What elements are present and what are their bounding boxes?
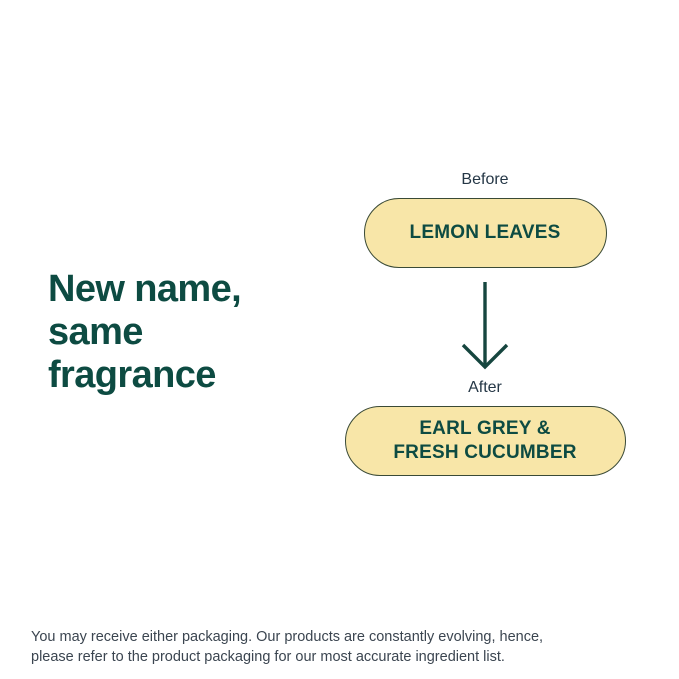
flow-arrow: [330, 282, 640, 378]
after-pill: EARL GREY & FRESH CUCUMBER: [345, 406, 626, 476]
headline-line-3: fragrance: [48, 354, 328, 397]
headline-line-1: New name,: [48, 268, 328, 311]
before-pill: LEMON LEAVES: [364, 198, 607, 268]
disclaimer-text: You may receive either packaging. Our pr…: [31, 627, 631, 667]
infographic-canvas: New name, same fragrance Before LEMON LE…: [0, 0, 679, 679]
page-title: New name, same fragrance: [48, 268, 328, 397]
after-pill-text-line-1: EARL GREY &: [393, 417, 576, 441]
down-arrow-icon: [455, 282, 515, 372]
before-label: Before: [330, 170, 640, 190]
after-pill-text-line-2: FRESH CUCUMBER: [393, 441, 576, 465]
after-label: After: [330, 378, 640, 398]
before-pill-text: LEMON LEAVES: [410, 222, 561, 244]
disclaimer-line-2: please refer to the product packaging fo…: [31, 647, 631, 667]
before-after-flow: Before LEMON LEAVES After EARL GREY & FR…: [330, 170, 640, 476]
headline-line-2: same: [48, 311, 328, 354]
disclaimer-line-1: You may receive either packaging. Our pr…: [31, 627, 631, 647]
after-pill-text: EARL GREY & FRESH CUCUMBER: [393, 417, 576, 465]
